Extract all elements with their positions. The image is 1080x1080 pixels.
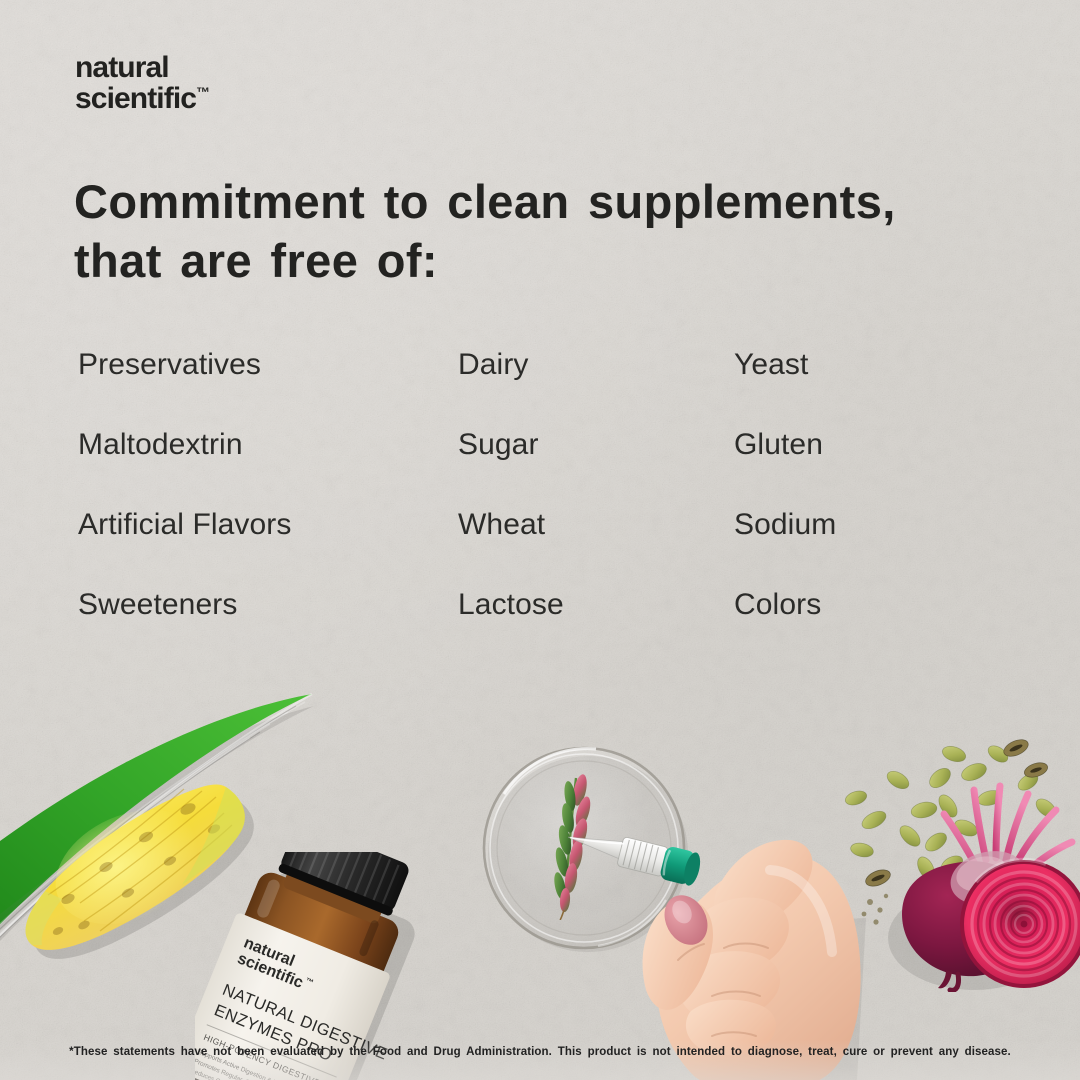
free-of-item: Colors bbox=[734, 588, 821, 622]
free-of-item: Sweeteners bbox=[78, 588, 237, 622]
free-of-item: Sugar bbox=[458, 428, 539, 462]
free-of-row: Preservatives Dairy Yeast bbox=[0, 348, 1080, 428]
brand-logo-line2: scientific™ bbox=[75, 83, 210, 114]
free-of-item: Artificial Flavors bbox=[78, 508, 292, 542]
page-title: Commitment to clean supplements, that ar… bbox=[74, 172, 1014, 290]
free-of-row: Maltodextrin Sugar Gluten bbox=[0, 428, 1080, 508]
free-of-item: Lactose bbox=[458, 588, 564, 622]
brand-logo-line1: natural bbox=[75, 52, 210, 83]
free-of-item: Dairy bbox=[458, 348, 529, 382]
free-of-item: Wheat bbox=[458, 508, 545, 542]
free-of-item: Sodium bbox=[734, 508, 836, 542]
free-of-item: Yeast bbox=[734, 348, 808, 382]
brand-logo-line2-text: scientific bbox=[75, 82, 196, 115]
free-of-row: Artificial Flavors Wheat Sodium bbox=[0, 508, 1080, 588]
headline-line1: Commitment to clean supplements, bbox=[74, 175, 896, 228]
fda-disclaimer: *These statements have not been evaluate… bbox=[0, 1046, 1080, 1058]
poster-canvas: natural scientific™ Commitment to clean … bbox=[0, 0, 1080, 1080]
free-of-item: Maltodextrin bbox=[78, 428, 243, 462]
free-of-item: Gluten bbox=[734, 428, 823, 462]
liquid-dropper bbox=[560, 815, 720, 895]
free-of-list: Preservatives Dairy Yeast Maltodextrin S… bbox=[0, 348, 1080, 668]
brand-logo: natural scientific™ bbox=[75, 52, 210, 114]
headline-line2: that are free of: bbox=[74, 234, 438, 287]
trademark-symbol: ™ bbox=[196, 84, 210, 100]
free-of-item: Preservatives bbox=[78, 348, 261, 382]
free-of-row: Sweeteners Lactose Colors bbox=[0, 588, 1080, 668]
